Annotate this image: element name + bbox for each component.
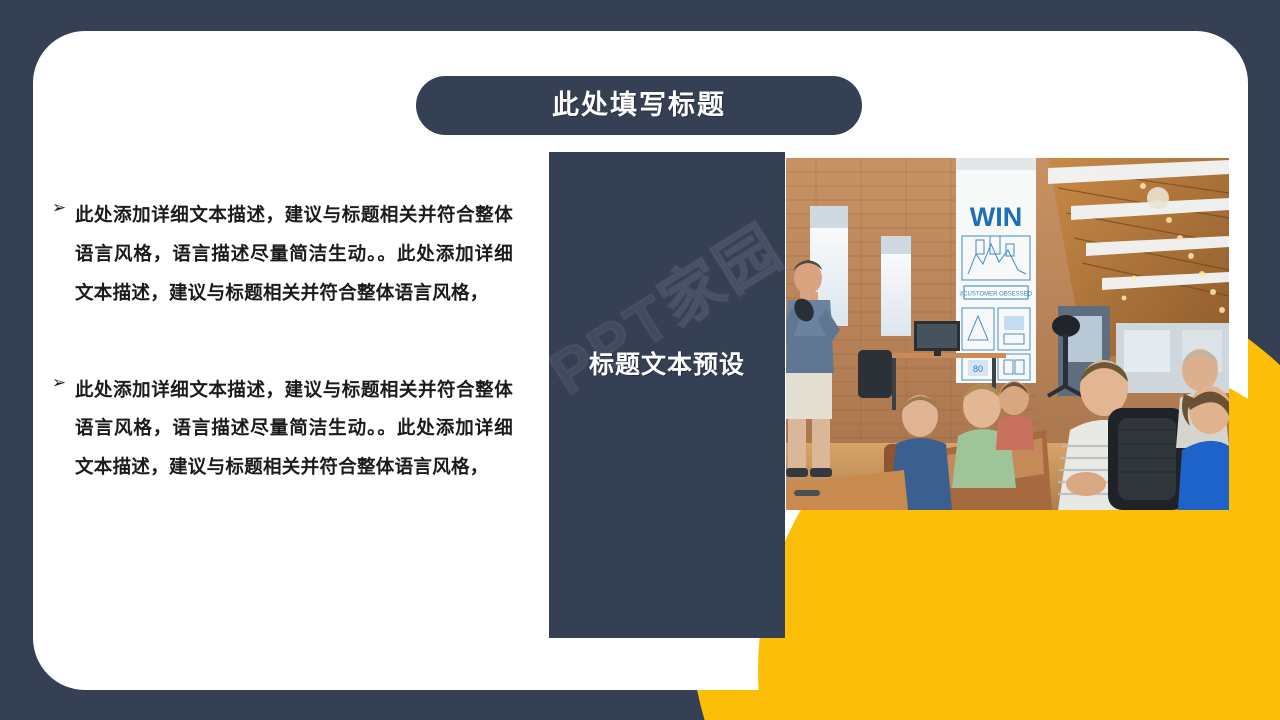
- page-title: 此处填写标题: [552, 92, 726, 119]
- list-item[interactable]: ➢ 此处添加详细文本描述，建议与标题相关并符合整体语言风格，语言描述尽量简洁生动…: [43, 196, 513, 313]
- bullet-text: 此处添加详细文本描述，建议与标题相关并符合整体语言风格，语言描述尽量简洁生动。。…: [75, 371, 513, 488]
- photo-illustration: WIN #CUSTOMER OBSESSED: [786, 158, 1229, 510]
- content-card: 此处填写标题 ➢ 此处添加详细文本描述，建议与标题相关并符合整体语言风格，语言描…: [33, 31, 1248, 690]
- arrow-bullet-icon: ➢: [43, 196, 75, 218]
- wall-sign-win: WIN: [970, 202, 1022, 232]
- yellow-swoosh-fill: [1078, 500, 1248, 690]
- side-caption-panel: PPT家园 标题文本预设: [549, 152, 785, 638]
- list-item[interactable]: ➢ 此处添加详细文本描述，建议与标题相关并符合整体语言风格，语言描述尽量简洁生动…: [43, 371, 513, 488]
- title-banner[interactable]: 此处填写标题: [416, 76, 862, 135]
- side-panel-label: 标题文本预设: [549, 347, 785, 383]
- presentation-slide: 此处填写标题 ➢ 此处添加详细文本描述，建议与标题相关并符合整体语言风格，语言描…: [0, 0, 1280, 720]
- bullet-text: 此处添加详细文本描述，建议与标题相关并符合整体语言风格，语言描述尽量简洁生动。。…: [75, 196, 513, 313]
- office-presentation-photo: WIN #CUSTOMER OBSESSED: [786, 158, 1229, 510]
- bullet-list: ➢ 此处添加详细文本描述，建议与标题相关并符合整体语言风格，语言描述尽量简洁生动…: [43, 196, 513, 545]
- wall-monitor-number: 80: [973, 364, 983, 374]
- wall-sign-motto: #CUSTOMER OBSESSED: [960, 292, 1033, 298]
- arrow-bullet-icon: ➢: [43, 371, 75, 393]
